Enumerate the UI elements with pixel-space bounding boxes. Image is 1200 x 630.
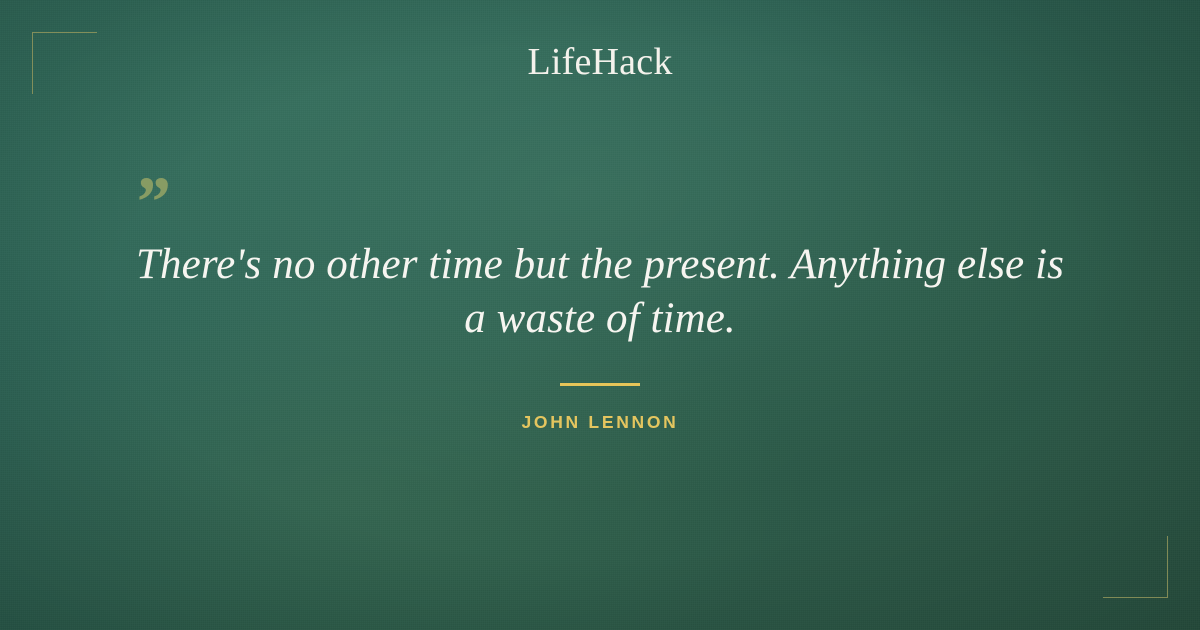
brand-logo: LifeHack <box>0 0 1200 124</box>
attribution-divider <box>560 383 640 386</box>
quote-card: LifeHack ” There's no other time but the… <box>0 0 1200 630</box>
quotation-mark-icon: ” <box>133 166 169 238</box>
attribution-divider-wrap <box>0 383 1200 386</box>
attribution: JOHN LENNON <box>0 412 1200 433</box>
corner-bracket-bottom-right-icon <box>1103 536 1168 598</box>
quote-text: There's no other time but the present. A… <box>0 150 1200 346</box>
quote-block: ” There's no other time but the present.… <box>0 150 1200 346</box>
author-name: JOHN LENNON <box>521 412 678 432</box>
brand-logo-text: LifeHack <box>527 43 672 81</box>
